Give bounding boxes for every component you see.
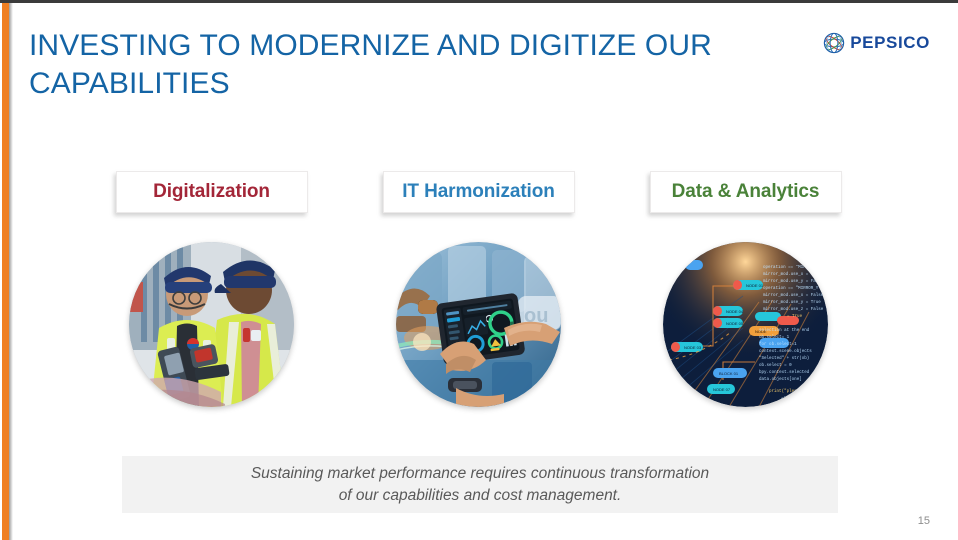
pillar-data-analytics: Data & Analytics bbox=[608, 171, 883, 407]
svg-text:NODE 05: NODE 05 bbox=[726, 321, 744, 326]
svg-text:selection at the end: selection at the end bbox=[759, 328, 810, 333]
svg-text:mirror_mod.use_x = True: mirror_mod.use_x = True bbox=[763, 272, 821, 277]
page-number: 15 bbox=[918, 515, 930, 527]
svg-text:"Selected" + str(ob): "Selected" + str(ob) bbox=[759, 356, 809, 361]
svg-text:NODE 07: NODE 07 bbox=[713, 387, 731, 392]
svg-text:data.objects[one]: data.objects[one] bbox=[759, 377, 802, 382]
svg-text:operation == "MIRROR_X": operation == "MIRROR_X" bbox=[763, 265, 821, 270]
svg-text:mirror_mod.use_z = False: mirror_mod.use_z = False bbox=[763, 307, 824, 312]
svg-text:= True: = True bbox=[787, 315, 803, 319]
svg-text:NODE 03: NODE 03 bbox=[684, 345, 702, 350]
pepsico-wordmark: PEPSICO bbox=[850, 33, 930, 53]
data-analytics-photo-art: NODE 01 NODE 04 NODE 05 NODE 03 BLOCK 0 bbox=[663, 242, 828, 407]
pepsico-logo: PEPSICO bbox=[823, 32, 930, 54]
svg-text:mirror_mod.use_y = True: mirror_mod.use_y = True bbox=[763, 300, 821, 305]
svg-text:ob.select = 0: ob.select = 0 bbox=[759, 363, 792, 368]
data-analytics-photo: NODE 01 NODE 04 NODE 05 NODE 03 BLOCK 0 bbox=[663, 242, 828, 407]
svg-text:ob.select= 1: ob.select= 1 bbox=[759, 335, 790, 340]
svg-text:context.scene.objects: context.scene.objects bbox=[759, 349, 812, 354]
label-card-data-analytics[interactable]: Data & Analytics bbox=[650, 171, 842, 213]
label-card-it-harmonization[interactable]: IT Harmonization bbox=[383, 171, 575, 213]
svg-text:bpy.context.selected: bpy.context.selected bbox=[759, 370, 810, 375]
svg-text:classes: classes bbox=[781, 397, 799, 402]
digitalization-photo-art bbox=[129, 242, 294, 407]
svg-text:for ob.select=1: for ob.select=1 bbox=[759, 342, 797, 347]
slide: INVESTING TO MODERNIZE AND DIGITIZE OUR … bbox=[0, 0, 958, 540]
caption-band: Sustaining market performance requires c… bbox=[122, 456, 838, 513]
pillars-row: Digitalization bbox=[0, 171, 958, 431]
svg-text:operation == "MIRROR_Y": operation == "MIRROR_Y" bbox=[763, 286, 821, 291]
svg-text:mirror_mod.use_x = False: mirror_mod.use_x = False bbox=[763, 293, 824, 298]
digitalization-photo bbox=[129, 242, 294, 407]
pepsico-globe-icon bbox=[823, 32, 845, 54]
it-harmonization-photo-art: ou bbox=[396, 242, 561, 407]
pillar-label: Data & Analytics bbox=[672, 181, 820, 203]
svg-text:BLOCK 01: BLOCK 01 bbox=[719, 371, 739, 376]
svg-text:mirror_mod.use_y = False: mirror_mod.use_y = False bbox=[763, 279, 824, 284]
pillar-label: IT Harmonization bbox=[402, 181, 555, 203]
pillar-digitalization: Digitalization bbox=[74, 171, 349, 407]
it-harmonization-photo: ou bbox=[396, 242, 561, 407]
page-title: INVESTING TO MODERNIZE AND DIGITIZE OUR … bbox=[29, 27, 769, 103]
svg-text:NODE 04: NODE 04 bbox=[726, 309, 744, 314]
caption-text: Sustaining market performance requires c… bbox=[251, 463, 709, 507]
pillar-it-harmonization: IT Harmonization bbox=[341, 171, 616, 407]
pillar-label: Digitalization bbox=[153, 181, 270, 203]
label-card-digitalization[interactable]: Digitalization bbox=[116, 171, 308, 213]
svg-text:print("please"): print("please") bbox=[769, 389, 807, 394]
svg-text:NODE 01: NODE 01 bbox=[746, 283, 764, 288]
